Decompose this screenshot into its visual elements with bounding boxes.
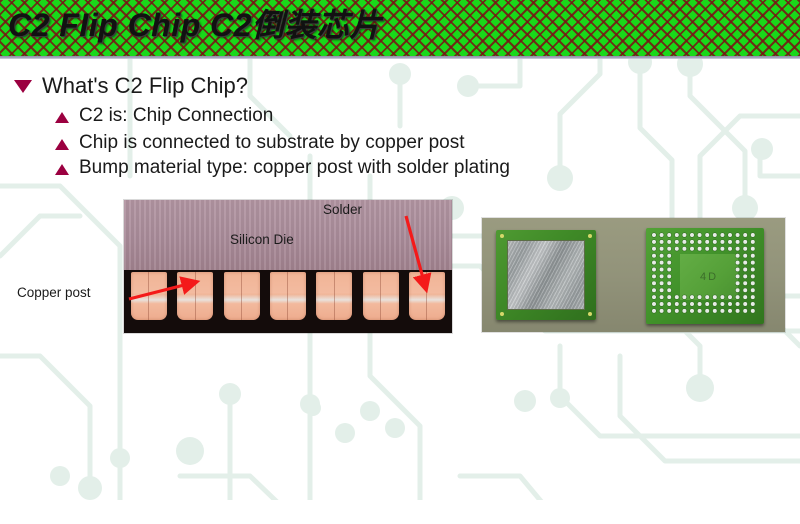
copper-post [224, 272, 260, 320]
solder-ball-array [646, 228, 764, 324]
copper-post-label: Copper post [17, 285, 91, 300]
bullet-level1-label: What's C2 Flip Chip? [42, 74, 248, 98]
package-ball-side-up: 4D [646, 228, 764, 324]
bullet-level2-label: Chip is connected to substrate by copper… [79, 132, 465, 154]
flip-chip-cross-section-photo [124, 200, 452, 333]
package-die-side-up [496, 230, 596, 320]
solder-label: Solder [323, 202, 362, 217]
bullet-level1: What's C2 Flip Chip? [14, 74, 248, 98]
copper-post [131, 272, 167, 320]
page-title: C2 FIip Chip C2倒装芯片 [8, 3, 382, 47]
copper-post [177, 272, 213, 320]
slide-canvas: C2 FIip Chip C2倒装芯片 What's C2 Flip Chip?… [0, 0, 800, 524]
bullet-level2-label: C2 is: Chip Connection [79, 105, 273, 127]
flip-chip-package-photo: 4D [482, 218, 785, 332]
triangle-up-icon [55, 139, 69, 150]
corner-fiducial-dot [500, 312, 504, 316]
triangle-up-icon [55, 112, 69, 123]
bullet-level2-item: C2 is: Chip Connection [55, 105, 273, 127]
copper-post [316, 272, 352, 320]
corner-fiducial-dot [588, 312, 592, 316]
triangle-up-icon [55, 164, 69, 175]
copper-post [270, 272, 306, 320]
bullet-level2-item: Chip is connected to substrate by copper… [55, 132, 465, 154]
corner-fiducial-dot [588, 234, 592, 238]
slide-bottom-band [0, 500, 800, 524]
bullet-level2-item: Bump material type: copper post with sol… [55, 157, 510, 179]
title-separator-rule [0, 56, 800, 59]
copper-post [409, 272, 445, 320]
copper-post-row [124, 270, 452, 333]
copper-post [363, 272, 399, 320]
bullet-level2-label: Bump material type: copper post with sol… [79, 157, 510, 179]
triangle-down-icon [14, 80, 32, 93]
silicon-die-label: Silicon Die [230, 232, 294, 247]
corner-fiducial-dot [500, 234, 504, 238]
silicon-die-surface [507, 240, 585, 310]
